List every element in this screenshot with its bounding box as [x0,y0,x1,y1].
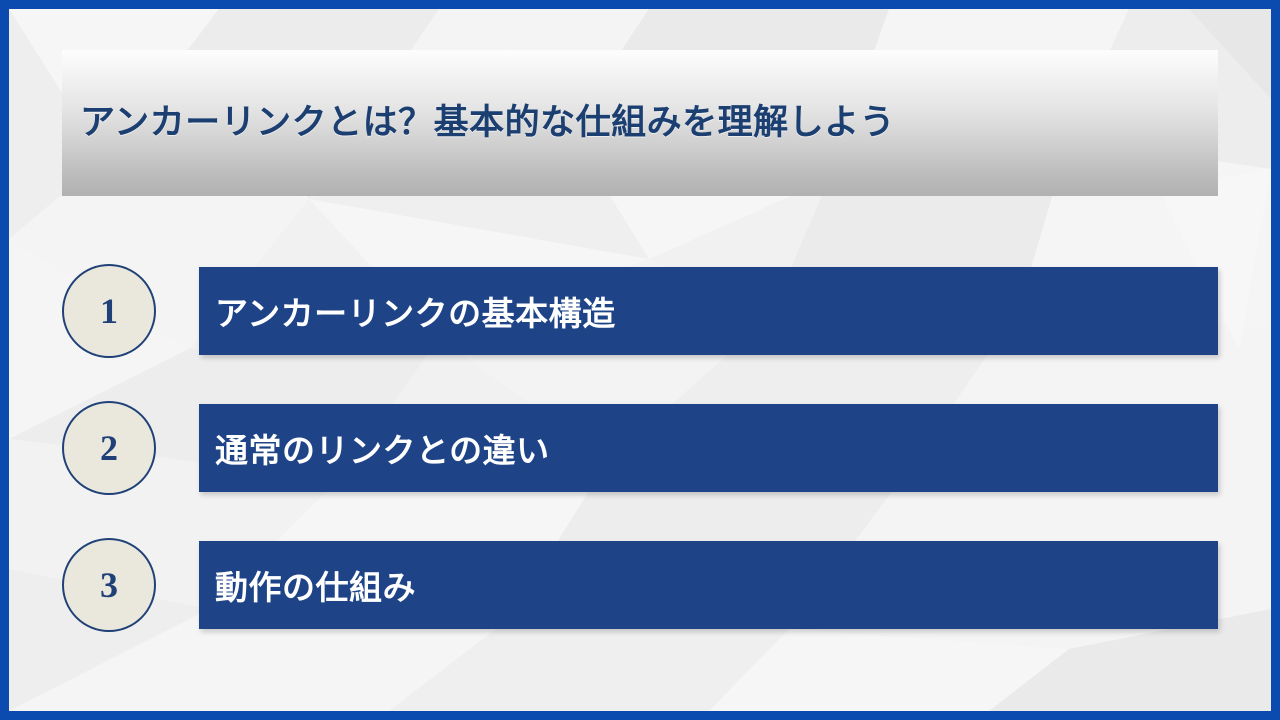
list-item[interactable]: 動作の仕組み 3 [62,536,1218,634]
item-number-badge: 1 [62,264,156,358]
slide-frame: アンカーリンクとは？基本的な仕組みを理解しよう アンカーリンクの基本構造 1 通… [0,0,1280,720]
item-number: 1 [100,293,118,329]
item-number: 3 [100,567,118,603]
item-bar[interactable]: アンカーリンクの基本構造 [199,267,1218,355]
item-bar[interactable]: 動作の仕組み [199,541,1218,629]
item-number-badge: 3 [62,538,156,632]
slide-canvas: アンカーリンクとは？基本的な仕組みを理解しよう アンカーリンクの基本構造 1 通… [9,9,1271,711]
item-number-badge: 2 [62,401,156,495]
item-label: 動作の仕組み [215,561,416,609]
list-item[interactable]: 通常のリンクとの違い 2 [62,399,1218,497]
list-item[interactable]: アンカーリンクの基本構造 1 [62,262,1218,360]
item-bar[interactable]: 通常のリンクとの違い [199,404,1218,492]
item-label: 通常のリンクとの違い [215,424,550,472]
item-label: アンカーリンクの基本構造 [215,287,616,335]
item-number: 2 [100,430,118,466]
title-banner: アンカーリンクとは？基本的な仕組みを理解しよう [62,50,1218,196]
page-title: アンカーリンクとは？基本的な仕組みを理解しよう [80,102,895,144]
